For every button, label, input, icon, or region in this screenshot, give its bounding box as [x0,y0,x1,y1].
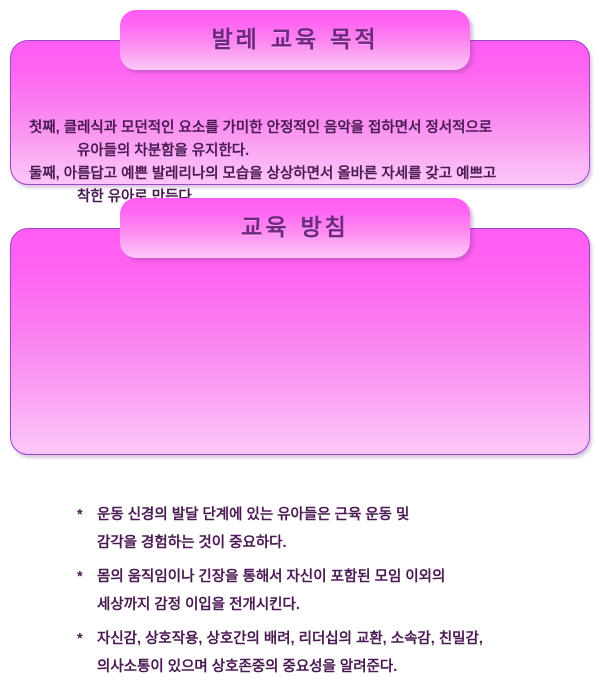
purpose-line-2: 유아들의 차분함을 유지한다. [29,140,593,163]
policy-title: 교육 방침 [241,217,349,240]
policy-title-banner: 교육 방침 [120,198,470,258]
purpose-line-1: 첫째, 클레식과 모던적인 요소를 가미한 안정적인 음악을 접하면서 정서적으… [29,117,593,140]
policy-card: *운동 신경의 발달 단계에 있는 유아들은 근육 운동 및 감각을 경험하는 … [10,228,590,455]
bullet-marker-icon: * [77,563,97,591]
purpose-body-text: 첫째, 클레식과 모던적인 요소를 가미한 안정적인 음악을 접하면서 정서적으… [29,117,593,209]
bullet-marker-icon: * [77,501,97,529]
slide-canvas: 첫째, 클레식과 모던적인 요소를 가미한 안정적인 음악을 접하면서 정서적으… [0,0,600,465]
policy-bullet-3-text-1: 자신감, 상호작용, 상호간의 배려, 리더십의 교환, 소속감, 친밀감, [97,631,483,647]
purpose-line-3: 둘째, 아름답고 예쁜 발레리나의 모습을 상상하면서 올바른 자세를 갖고 예… [29,163,593,186]
policy-bullet-3-line-1: *자신감, 상호작용, 상호간의 배려, 리더십의 교환, 소속감, 친밀감, [77,625,587,653]
policy-bullet-2-line-2: 세상까지 감정 이입을 전개시킨다. [77,591,587,619]
list-item: *자신감, 상호작용, 상호간의 배려, 리더십의 교환, 소속감, 친밀감, … [77,625,587,681]
policy-bullet-1-line-2: 감각을 경험하는 것이 중요하다. [77,529,587,557]
policy-body-text: *운동 신경의 발달 단계에 있는 유아들은 근육 운동 및 감각을 경험하는 … [77,501,587,687]
policy-bullet-2-line-1: *몸의 움직임이나 긴장을 통해서 자신이 포함된 모임 이외의 [77,563,587,591]
policy-bullet-1-line-1: *운동 신경의 발달 단계에 있는 유아들은 근육 운동 및 [77,501,587,529]
policy-bullet-3-line-2: 의사소통이 있으며 상호존중의 중요성을 알려준다. [77,653,587,681]
policy-bullet-1-text-1: 운동 신경의 발달 단계에 있는 유아들은 근육 운동 및 [97,507,409,523]
policy-bullet-2-text-1: 몸의 움직임이나 긴장을 통해서 자신이 포함된 모임 이외의 [97,569,445,585]
purpose-title: 발레 교육 목적 [212,29,379,52]
purpose-title-banner: 발레 교육 목적 [120,10,470,70]
list-item: *운동 신경의 발달 단계에 있는 유아들은 근육 운동 및 감각을 경험하는 … [77,501,587,557]
list-item: *몸의 움직임이나 긴장을 통해서 자신이 포함된 모임 이외의 세상까지 감정… [77,563,587,619]
bullet-marker-icon: * [77,625,97,653]
